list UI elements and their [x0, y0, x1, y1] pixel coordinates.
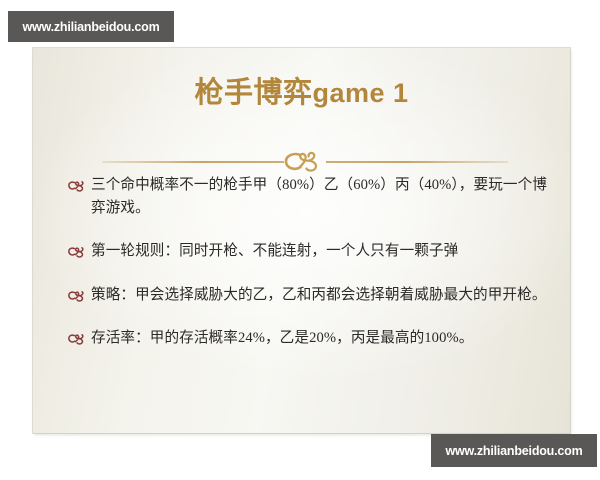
- list-item: 第一轮规则：同时开枪、不能连射，一个人只有一颗子弹: [67, 240, 547, 263]
- calligraphic-flourish-icon: [274, 146, 336, 176]
- cr-ornament-bullet-icon: [67, 243, 84, 261]
- cr-ornament-bullet-icon: [67, 330, 84, 348]
- divider-rule-right: [326, 161, 508, 163]
- list-item: 存活率：甲的存活概率24%，乙是20%，丙是最高的100%。: [67, 327, 547, 350]
- list-item-text: 三个命中概率不一的枪手甲（80%）乙（60%）丙（40%），要玩一个博弈游戏。: [91, 174, 547, 219]
- list-item: 策略：甲会选择威胁大的乙，乙和丙都会选择朝着威胁最大的甲开枪。: [67, 284, 547, 307]
- watermark-top-left: www.zhilianbeidou.com: [8, 11, 174, 42]
- ornamental-divider: [102, 148, 508, 174]
- list-item-text: 第一轮规则：同时开枪、不能连射，一个人只有一颗子弹: [91, 240, 547, 263]
- list-item-text: 策略：甲会选择威胁大的乙，乙和丙都会选择朝着威胁最大的甲开枪。: [91, 284, 547, 307]
- bullet-list: 三个命中概率不一的枪手甲（80%）乙（60%）丙（40%），要玩一个博弈游戏。 …: [67, 174, 547, 350]
- cr-ornament-bullet-icon: [67, 287, 84, 305]
- list-item: 三个命中概率不一的枪手甲（80%）乙（60%）丙（40%），要玩一个博弈游戏。: [67, 174, 547, 219]
- page-title-cjk: 枪手博弈: [194, 77, 312, 109]
- divider-rule-left: [102, 161, 284, 163]
- presentation-slide: 枪手博弈game 1: [33, 48, 570, 433]
- page-title: 枪手博弈game 1: [33, 78, 570, 110]
- list-item-text: 存活率：甲的存活概率24%，乙是20%，丙是最高的100%。: [91, 327, 547, 350]
- cr-ornament-bullet-icon: [67, 177, 84, 195]
- page-title-latin: game 1: [312, 78, 408, 108]
- watermark-bottom-right: www.zhilianbeidou.com: [431, 434, 597, 467]
- slide-canvas: 枪手博弈game 1: [0, 0, 600, 480]
